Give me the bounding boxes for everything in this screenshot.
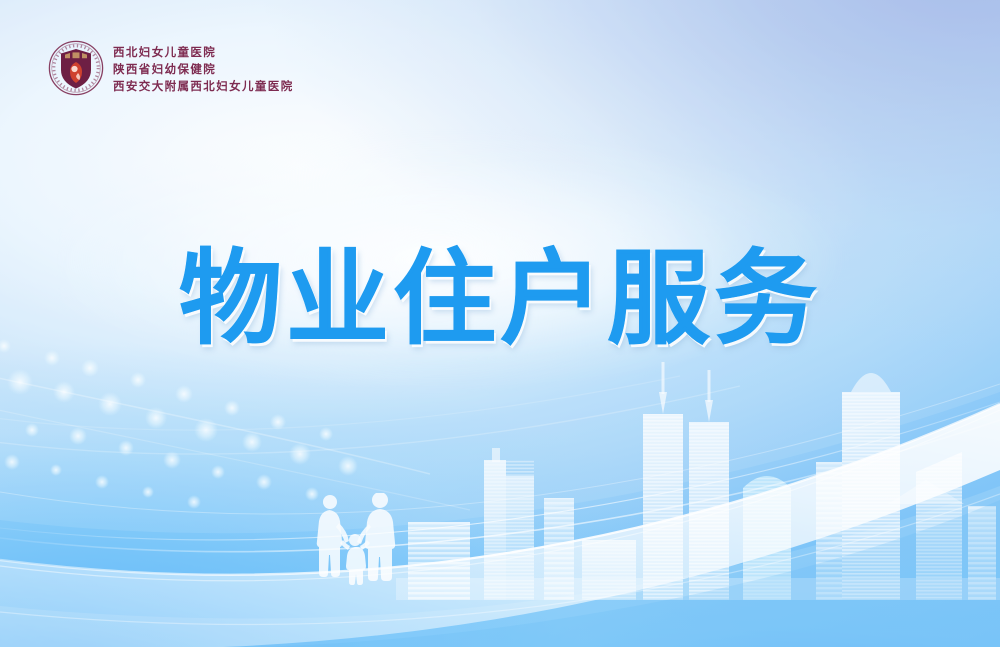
hospital-branding: 西北妇女儿童医院 陕西省妇幼保健院 西安交大附属西北妇女儿童医院 [48,40,294,96]
hospital-name-lines: 西北妇女儿童医院 陕西省妇幼保健院 西安交大附属西北妇女儿童医院 [113,43,294,94]
hospital-shield-badge-icon [48,40,104,96]
page-title: 物业住户服务 [0,248,1000,351]
hospital-name-line-2: 陕西省妇幼保健院 [113,62,294,77]
hospital-name-line-3: 西安交大附属西北妇女儿童医院 [113,79,294,94]
hospital-name-line-1: 西北妇女儿童医院 [113,45,294,60]
title-slide: 西北妇女儿童医院 陕西省妇幼保健院 西安交大附属西北妇女儿童医院 物业住户服务 [0,0,1000,647]
